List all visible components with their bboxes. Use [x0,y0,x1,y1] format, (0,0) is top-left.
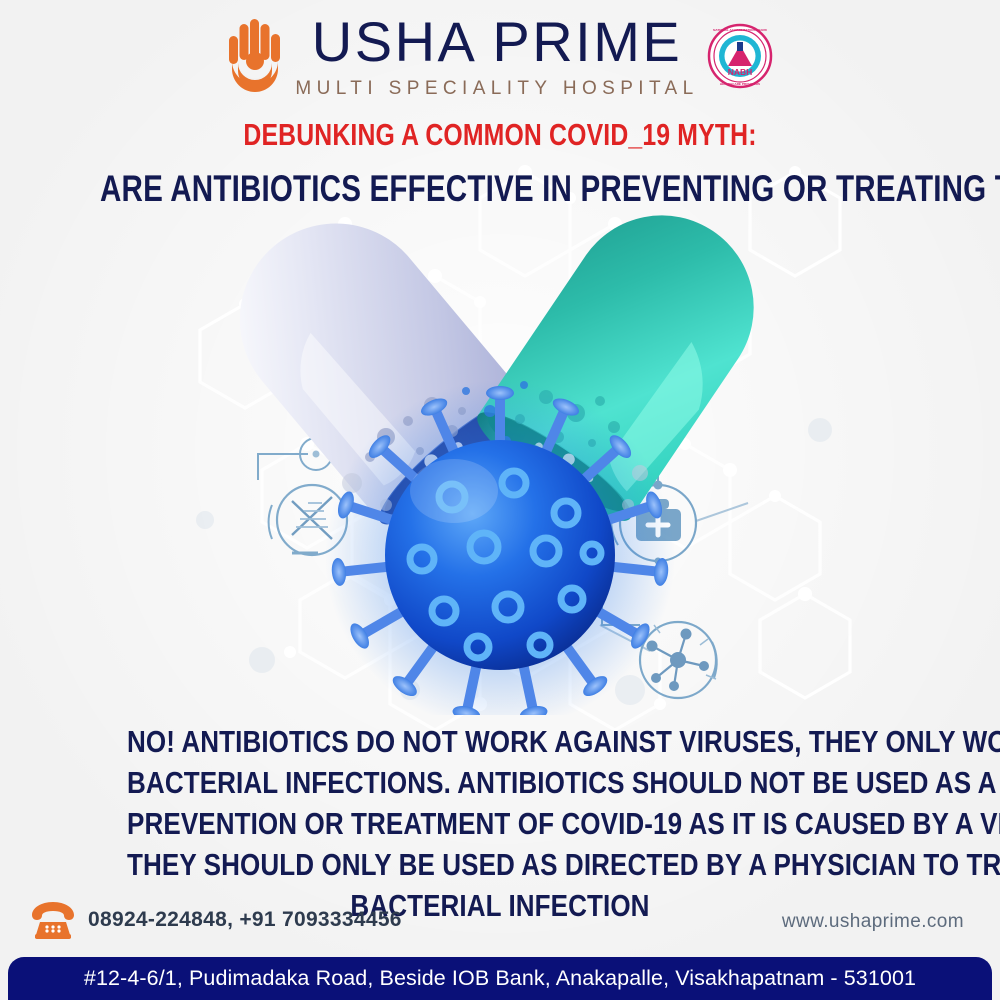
svg-text:NATIONAL ACCREDITATION BOARD: NATIONAL ACCREDITATION BOARD [713,28,768,32]
svg-text:HEALTHCARE PROVIDERS: HEALTHCARE PROVIDERS [720,82,760,86]
wordmark: USHA PRIME MULTI SPECIALITY HOSPITAL [295,14,698,98]
telephone-icon [30,900,76,940]
phone-number[interactable]: 08924-224848, +91 7093334456 [88,908,402,932]
hero-illustration [0,205,1000,715]
body-line: NO! ANTIBIOTICS DO NOT WORK AGAINST VIRU… [127,722,873,763]
hand-with-dot-icon [227,17,285,95]
brand-name: USHA PRIME [312,14,682,70]
body-line: THEY SHOULD ONLY BE USED AS DIRECTED BY … [127,845,873,886]
brand-header: USHA PRIME MULTI SPECIALITY HOSPITAL NAB… [0,8,1000,104]
brand-tagline: MULTI SPECIALITY HOSPITAL [295,79,698,98]
headline-question: ARE ANTIBIOTICS EFFECTIVE IN PREVENTING … [100,168,900,211]
body-copy: NO! ANTIBIOTICS DO NOT WORK AGAINST VIRU… [56,722,944,927]
headline-block: DEBUNKING A COMMON COVID_19 MYTH: ARE AN… [0,118,1000,211]
body-line: BACTERIAL INFECTIONS. ANTIBIOTICS SHOULD… [127,763,873,804]
address-bar: #12-4-6/1, Pudimadaka Road, Beside IOB B… [8,957,992,1000]
website-url[interactable]: www.ushaprime.com [782,911,964,933]
address-text: #12-4-6/1, Pudimadaka Road, Beside IOB B… [84,966,916,991]
coronavirus-particle [325,380,675,715]
contact-phone-group[interactable]: 08924-224848, +91 7093334456 [30,900,402,940]
headline-eyebrow: DEBUNKING A COMMON COVID_19 MYTH: [100,118,900,152]
body-line: PREVENTION OR TREATMENT OF COVID-19 AS I… [127,804,873,845]
nabh-seal-icon: NABH NATIONAL ACCREDITATION BOARD HEALTH… [707,23,773,89]
poster-canvas: USHA PRIME MULTI SPECIALITY HOSPITAL NAB… [0,0,1000,1000]
svg-text:NABH: NABH [727,67,752,77]
